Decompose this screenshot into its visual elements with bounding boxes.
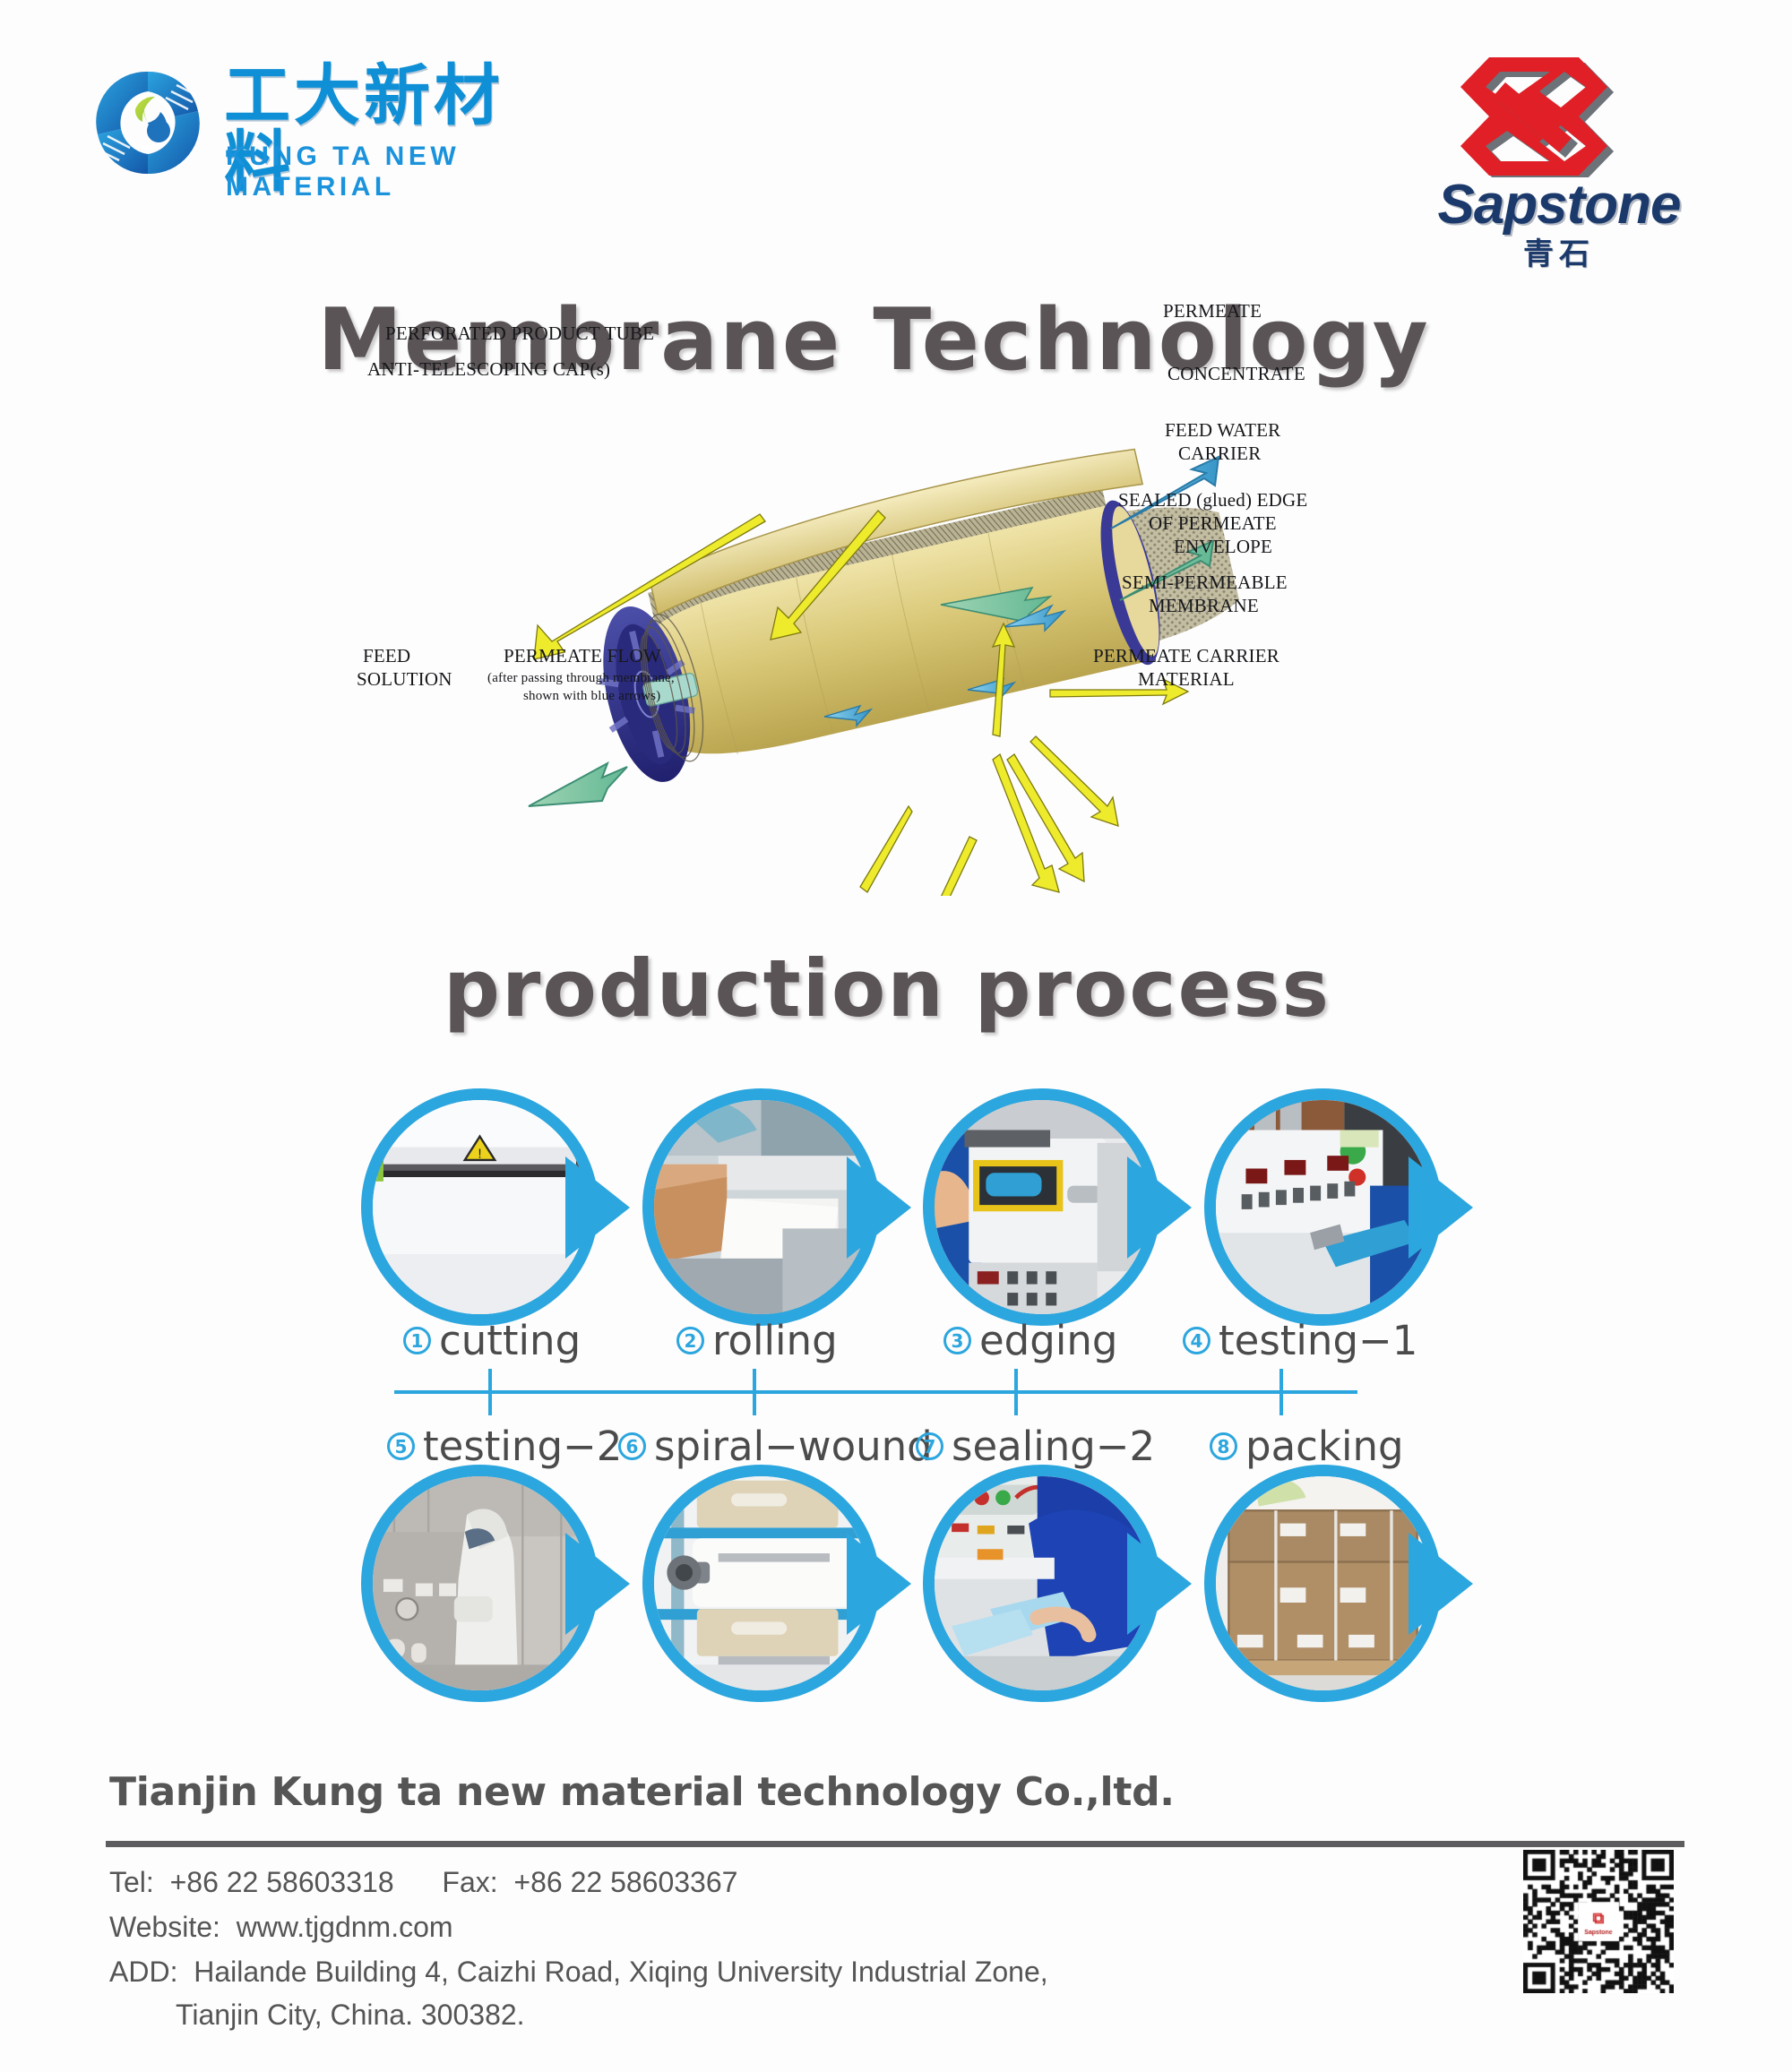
stacked-cartons-pallet-photo [1216,1476,1430,1690]
diagram-label-semi-permeable-line2: MEMBRANE [1149,595,1259,617]
step-text-6: spiral−wound [654,1423,933,1470]
step-label-7[interactable]: 7 sealing−2 [916,1423,1155,1470]
diagram-label-sealed-edge-line1: SEALED (glued) EDGE [1118,489,1307,512]
process-step-1-image[interactable]: ! [361,1088,599,1326]
step-arrow-icon [565,1156,630,1259]
step-arrow-icon [1409,1533,1473,1635]
step-text-5: testing−2 [423,1423,622,1470]
step-number-4: 4 [1183,1327,1210,1354]
tel-label: Tel: [109,1866,154,1898]
step-arrow-icon [847,1533,911,1635]
step-arrow-icon [1127,1156,1192,1259]
diagram-label-permeate: PERMEATE [1163,300,1262,322]
diagram-label-permeate-flow: PERMEATE FLOW [504,645,661,667]
step-label-4[interactable]: 4 testing−1 [1183,1317,1417,1364]
testing-control-panel-photo [1216,1100,1430,1314]
process-step-6-image[interactable] [642,1465,880,1702]
step-label-1[interactable]: 1 cutting [403,1317,581,1364]
cutting-machine-blade-photo: ! [373,1100,587,1314]
svg-text:!: ! [478,1148,482,1162]
sapstone-chinese-name: 青石 [1380,229,1738,273]
membrane-element-diagram: PERFORATED PRODUCT TUBE ANTI-TELESCOPING… [502,421,1308,896]
process-step-4-image[interactable] [1204,1088,1442,1326]
step-label-6[interactable]: 6 spiral−wound [618,1423,933,1470]
address-value-line1: Hailande Building 4, Caizhi Road, Xiqing… [194,1956,1047,1988]
process-step-7-image[interactable] [923,1465,1160,1702]
step-label-5[interactable]: 5 testing−2 [387,1423,622,1470]
page-header: 工大新材料 KUNG TA NEW MATERIAL Sapstone 青石 [0,0,1792,269]
diagram-label-feed-water-carrier-line1: FEED WATER [1165,419,1280,442]
contact-address-line2: Tianjin City, China. 300382. [176,1999,525,2032]
contact-website-line[interactable]: Website: www.tjgdnm.com [109,1911,453,1944]
diagram-label-permeate-flow-note-line2: shown with blue arrows) [523,688,660,704]
company-name: Tianjin Kung ta new material technology … [109,1769,1175,1815]
step-number-6: 6 [618,1432,646,1460]
step-text-7: sealing−2 [952,1423,1155,1470]
axis-tick-2 [753,1369,756,1415]
step-text-2: rolling [712,1317,838,1364]
fax-label: Fax: [442,1866,497,1898]
sapstone-wordmark: Sapstone [1380,177,1738,233]
cleanroom-worker-testing-photo [373,1476,587,1690]
step-number-3: 3 [943,1327,971,1354]
diagram-label-perforated-product-tube: PERFORATED PRODUCT TUBE [385,322,654,345]
diagram-label-anti-telescoping-cap: ANTI-TELESCOPING CAP(s) [367,358,610,381]
step-number-7: 7 [916,1432,943,1460]
edging-machine-yellow-panel-photo [935,1100,1149,1314]
process-timeline-axis [394,1390,1357,1394]
diagram-label-semi-permeable-line1: SEMI-PERMEABLE [1122,572,1288,594]
diagram-label-permeate-carrier-line2: MATERIAL [1138,668,1235,691]
process-step-8-image[interactable] [1204,1465,1442,1702]
worker-rolling-membrane-sheet-photo [654,1100,868,1314]
address-label: ADD: [109,1956,177,1988]
process-step-3-image[interactable] [923,1088,1160,1326]
sapstone-logo: Sapstone 青石 [1429,52,1725,249]
production-process-title: production process [0,942,1783,1035]
axis-tick-3 [1014,1369,1018,1415]
process-step-labels: 1 cutting 2 rolling 3 edging 4 testing−1… [0,1317,1792,1460]
axis-tick-1 [488,1369,492,1415]
website-value[interactable]: www.tjgdnm.com [237,1911,453,1943]
step-number-2: 2 [676,1327,704,1354]
contact-address-line1: ADD: Hailande Building 4, Caizhi Road, X… [109,1956,1048,1989]
membrane-technology-title: Membrane Technology [0,291,1770,390]
diagram-label-feed-solution-line1: FEED [363,645,410,667]
step-text-8: packing [1245,1423,1404,1470]
diagram-label-feed-water-carrier-line2: CARRIER [1178,443,1261,465]
fax-value: +86 22 58603367 [513,1866,737,1898]
diagram-label-concentrate: CONCENTRATE [1167,363,1305,385]
step-label-2[interactable]: 2 rolling [676,1317,838,1364]
kung-ta-english-name: KUNG TA NEW MATERIAL [226,142,569,202]
sapstone-double-s-mark-icon [1449,52,1619,177]
step-arrow-icon [847,1156,911,1259]
process-step-5-image[interactable] [361,1465,599,1702]
tel-value: +86 22 58603318 [170,1866,394,1898]
step-arrow-icon [1127,1533,1192,1635]
qr-code[interactable] [1523,1850,1674,1993]
step-text-3: edging [979,1317,1117,1364]
process-step-2-image[interactable] [642,1088,880,1326]
step-label-8[interactable]: 8 packing [1210,1423,1404,1470]
step-text-1: cutting [439,1317,581,1364]
footer-divider [106,1841,1684,1847]
spiral-wound-rolls-photo [654,1476,868,1690]
step-label-3[interactable]: 3 edging [943,1317,1117,1364]
worker-sealing-elements-photo [935,1476,1149,1690]
diagram-label-permeate-carrier-line1: PERMEATE CARRIER [1093,645,1279,667]
diagram-label-sealed-edge-line2: OF PERMEATE [1149,512,1277,535]
hands-circle-leaf-logo-icon [85,64,211,181]
step-arrow-icon [565,1533,630,1635]
kung-ta-logo: 工大新材料 KUNG TA NEW MATERIAL [85,63,569,184]
diagram-label-permeate-flow-note-line1: (after passing through membrane, [487,670,675,686]
step-arrow-icon [1409,1156,1473,1259]
step-text-4: testing−1 [1219,1317,1417,1364]
step-number-1: 1 [403,1327,431,1354]
contact-phone-line: Tel: +86 22 58603318 Fax: +86 22 5860336… [109,1866,737,1899]
diagram-label-feed-solution-line2: SOLUTION [357,668,452,691]
website-label: Website: [109,1911,220,1943]
axis-tick-4 [1279,1369,1283,1415]
diagram-label-sealed-edge-line3: ENVELOPE [1174,536,1272,558]
step-number-8: 8 [1210,1432,1237,1460]
step-number-5: 5 [387,1432,415,1460]
